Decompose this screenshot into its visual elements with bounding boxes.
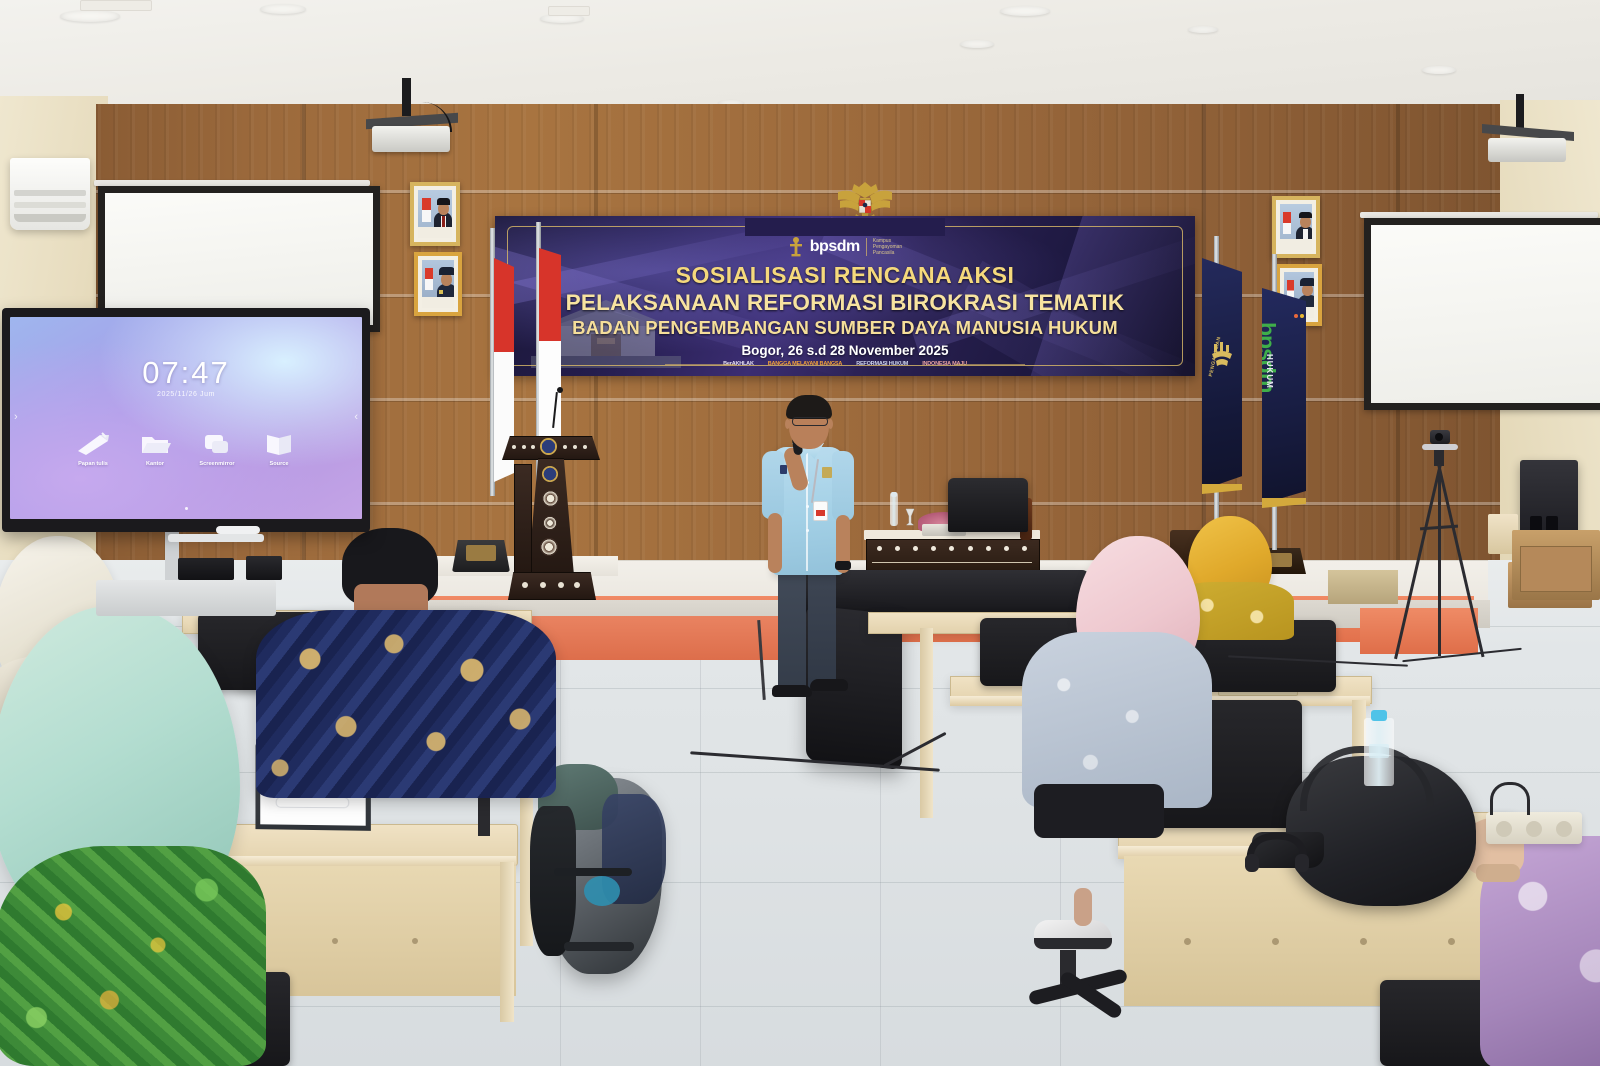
photo-scene: bpsdm Kampus Pengayoman Pancasila SOSIAL… xyxy=(0,0,1600,1066)
banner-title-line2: PELAKSANAAN REFORMASI BIROKRASI TEMATIK xyxy=(495,290,1195,316)
ceiling-vent xyxy=(548,6,590,16)
desk-leg xyxy=(920,628,933,818)
tv-date: 2025/11/26 Jum xyxy=(10,391,362,398)
eyeglasses xyxy=(792,417,828,426)
ceiling-light xyxy=(1188,26,1218,33)
tv-page-indicator xyxy=(185,507,188,510)
attendee-purple-hijab xyxy=(1462,818,1600,1066)
banner-brand-row: bpsdm Kampus Pengayoman Pancasila xyxy=(495,234,1195,260)
attendee-pink-hijab xyxy=(1022,536,1232,836)
bottle-cap xyxy=(1371,710,1387,721)
banner-brand-sub: Kampus Pengayoman Pancasila xyxy=(873,238,902,257)
presenter-arm-left xyxy=(768,513,782,573)
banner-footer-logos: BerAKHLAK BANGGA MELAYANI BANGSA REFORMA… xyxy=(495,357,1195,371)
black-leather-chair xyxy=(948,478,1028,532)
ceiling-light xyxy=(60,10,120,22)
source-book-icon xyxy=(259,425,299,457)
portrait-president-right xyxy=(1272,196,1320,258)
split-air-conditioner xyxy=(10,158,90,230)
tripod-leg xyxy=(1394,464,1442,660)
wristwatch xyxy=(835,561,851,570)
ceiling-light xyxy=(1000,6,1050,16)
display-shelf xyxy=(168,534,264,542)
attendee-leg xyxy=(1074,888,1092,926)
tv-app-row: Papan tulis Kantor xyxy=(10,425,362,467)
tv-app-label: Source xyxy=(259,461,299,467)
presenter-ear xyxy=(828,419,833,429)
banner-date: Bogor, 26 s.d 28 November 2025 xyxy=(495,343,1195,358)
screen-mirror-icon xyxy=(197,425,237,457)
mineral-water-bottle xyxy=(1364,718,1394,786)
presenter-leg-left xyxy=(778,567,806,695)
tv-app-kantor[interactable]: Kantor xyxy=(135,425,175,467)
wireless-mic xyxy=(216,526,260,534)
tv-app-label: Kantor xyxy=(135,461,175,467)
podium-emblem-top xyxy=(540,438,557,455)
banner-title-line1: SOSIALISASI RENCANA AKSI xyxy=(495,262,1195,289)
tv-clock: 07:47 xyxy=(10,355,362,391)
shirt-emblem xyxy=(822,467,832,478)
ceiling-light xyxy=(260,4,306,14)
tripod-leg xyxy=(1437,464,1484,658)
ceiling-vent xyxy=(80,0,152,11)
ptz-camera-on-tripod xyxy=(1390,430,1500,670)
power-strip[interactable] xyxy=(1486,812,1582,844)
podium-microphone-head xyxy=(557,387,563,393)
banner-title-line3: BADAN PENGEMBANGAN SUMBER DAYA MANUSIA H… xyxy=(495,317,1195,339)
water-bottle xyxy=(890,492,898,526)
attendee-navy-batik xyxy=(246,528,566,778)
kemenkumham-flag: PENGAYOMAN xyxy=(1192,236,1242,526)
tv-app-papan-tulis[interactable]: Papan tulis xyxy=(73,425,113,467)
footer-logo-bangga-melayani: BANGGA MELAYANI BANGSA xyxy=(768,361,842,367)
portrait-minister-left xyxy=(414,252,462,316)
tv-app-label: Papan tulis xyxy=(73,461,113,467)
podium-emblem-body xyxy=(542,466,558,482)
tv-screen[interactable]: 07:47 2025/11/26 Jum Papan tulis xyxy=(10,317,362,519)
presenter-speaker xyxy=(752,385,872,705)
wooden-cabinet xyxy=(1512,530,1600,600)
presenter-shoe-right xyxy=(810,679,848,691)
drinking-glass xyxy=(905,508,915,526)
kemenkumham-icon xyxy=(788,236,804,258)
presenter-sleeve-left xyxy=(762,451,784,519)
interactive-display[interactable]: 07:47 2025/11/26 Jum Papan tulis xyxy=(2,308,370,532)
headphones xyxy=(1244,830,1310,874)
tv-app-label: Screenmirror xyxy=(197,461,237,467)
flag-hukum-label: HUKUM xyxy=(1265,354,1274,389)
tv-app-screenmirror[interactable]: Screenmirror xyxy=(197,425,237,467)
footer-logo-reformasi-hukum: REFORMASI HUKUM xyxy=(856,361,908,367)
tv-stand-base xyxy=(96,580,276,616)
ceiling-projector-right xyxy=(1472,94,1582,174)
presenter-shoe-left xyxy=(772,685,812,697)
shirt-pocket-pin xyxy=(780,465,787,474)
presenter-shirt-placket xyxy=(806,453,808,571)
desk-leg xyxy=(500,862,514,1022)
podium-rosette xyxy=(542,490,559,507)
cardboard-box xyxy=(1328,570,1398,604)
ceiling-light xyxy=(1422,66,1456,74)
tv-arrow-right[interactable]: ‹ xyxy=(354,411,358,423)
event-banner: bpsdm Kampus Pengayoman Pancasila SOSIAL… xyxy=(495,216,1195,376)
folder-office-icon xyxy=(135,425,175,457)
whiteboard-icon xyxy=(73,425,113,457)
presenter-hair xyxy=(786,395,832,419)
projection-screen-right xyxy=(1364,218,1600,410)
id-badge xyxy=(813,501,828,521)
presenter-leg-right xyxy=(808,567,836,689)
bpsdm-hukum-flag: bpsdm HUKUM xyxy=(1256,270,1310,550)
tripod-leg xyxy=(1438,464,1441,656)
bpsdm-wordmark: bpsdm xyxy=(810,238,860,256)
media-box xyxy=(246,556,282,580)
portrait-president-left xyxy=(410,182,460,246)
camera-lens xyxy=(1435,433,1443,441)
power-cable-loop xyxy=(1490,782,1530,815)
ceiling-projector xyxy=(358,78,468,158)
tv-app-source[interactable]: Source xyxy=(259,425,299,467)
attendee-shoe xyxy=(1034,920,1112,950)
presenter-ear xyxy=(785,419,790,429)
attendee-skirt xyxy=(1034,784,1164,838)
presenter-sleeve-right xyxy=(832,451,854,521)
ceiling-light xyxy=(960,40,994,48)
attendee-wrist xyxy=(1476,864,1520,882)
media-box xyxy=(178,558,234,580)
tv-arrow-left[interactable]: › xyxy=(14,411,18,423)
